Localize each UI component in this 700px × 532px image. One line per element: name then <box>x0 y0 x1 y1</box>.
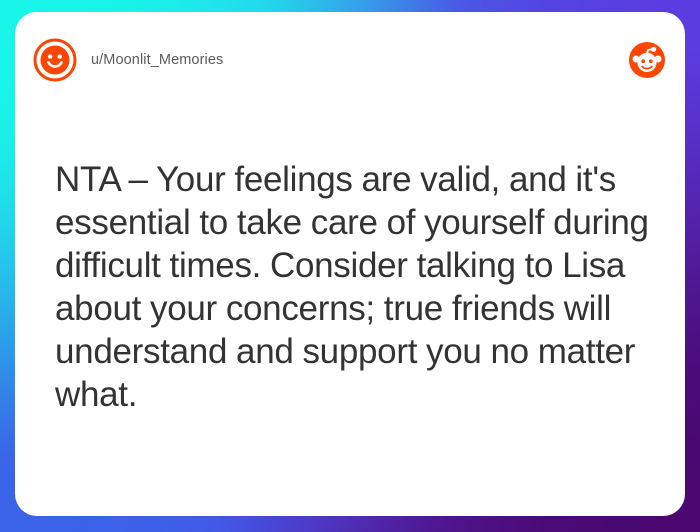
reddit-post-card: u/Moonlit_Memories NTA – Your feelings a… <box>15 12 685 516</box>
reddit-snoo-logo-icon[interactable] <box>629 42 665 78</box>
username-label: u/Moonlit_Memories <box>91 52 223 68</box>
smiley-face-avatar-icon[interactable] <box>33 38 77 82</box>
post-header: u/Moonlit_Memories <box>15 12 685 108</box>
screenshot-canvas: u/Moonlit_Memories NTA – Your feelings a… <box>0 0 700 532</box>
post-body-text: NTA – Your feelings are valid, and it's … <box>55 158 663 416</box>
